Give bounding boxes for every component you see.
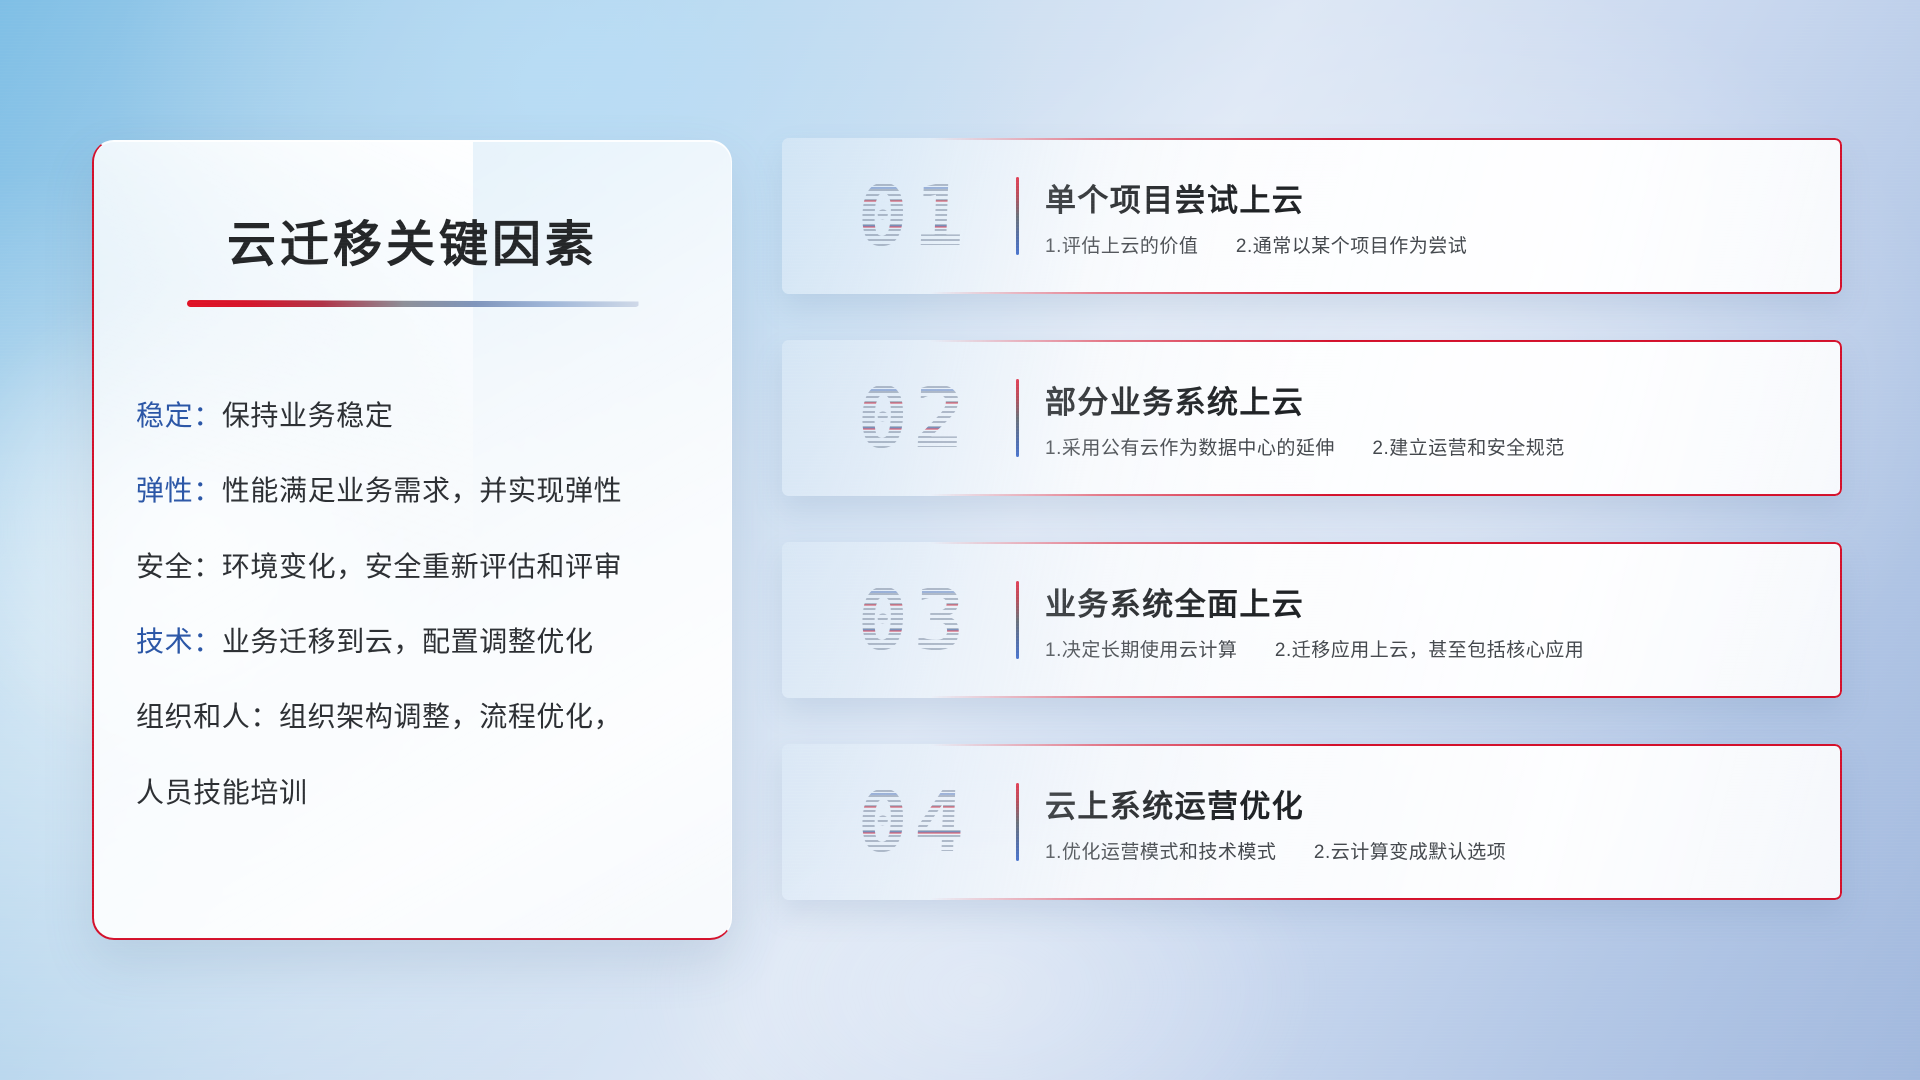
factor-item-elasticity: 弹性：性能满足业务需求，并实现弹性	[136, 468, 693, 513]
factor-text: 人员技能培训	[136, 777, 308, 808]
step-card-04[interactable]: 04 云上系统运营优化 1.优化运营模式和技术模式 2.云计算变成默认选项	[782, 744, 1842, 900]
step-number-01: 01	[815, 174, 1014, 258]
card-divider-bar	[1016, 177, 1019, 255]
step-title: 单个项目尝试上云	[1045, 175, 1804, 220]
factor-item-organization-cont: 人员技能培训	[136, 770, 693, 815]
step-content: 单个项目尝试上云 1.评估上云的价值 2.通常以某个项目作为尝试	[1045, 175, 1842, 258]
step-title: 业务系统全面上云	[1045, 579, 1804, 624]
step-content: 部分业务系统上云 1.采用公有云作为数据中心的延伸 2.建立运营和安全规范	[1045, 377, 1842, 460]
step-content: 业务系统全面上云 1.决定长期使用云计算 2.迁移应用上云，甚至包括核心应用	[1045, 579, 1842, 662]
migration-steps-list: 01 单个项目尝试上云 1.评估上云的价值 2.通常以某个项目作为尝试 02 部…	[782, 138, 1842, 900]
title-underline-rule	[187, 300, 639, 307]
step-description: 1.采用公有云作为数据中心的延伸 2.建立运营和安全规范	[1045, 433, 1804, 460]
slide-canvas: 云迁移关键因素 稳定：保持业务稳定 弹性：性能满足业务需求，并实现弹性 安全：环…	[0, 0, 1920, 1080]
card-divider-bar	[1016, 581, 1019, 659]
step-desc-part-1: 1.优化运营模式和技术模式	[1045, 842, 1276, 863]
step-title: 云上系统运营优化	[1045, 781, 1804, 826]
factor-key: 安全：	[136, 551, 222, 582]
factor-item-organization: 组织和人：组织架构调整，流程优化，	[136, 694, 693, 739]
factor-key: 组织和人：	[136, 701, 279, 732]
factor-text: 业务迁移到云，配置调整优化	[222, 626, 594, 657]
step-number-04: 04	[815, 780, 1014, 864]
factor-text: 性能满足业务需求，并实现弹性	[222, 475, 622, 506]
step-description: 1.决定长期使用云计算 2.迁移应用上云，甚至包括核心应用	[1045, 635, 1804, 662]
step-desc-part-2: 2.云计算变成默认选项	[1314, 842, 1506, 863]
step-content: 云上系统运营优化 1.优化运营模式和技术模式 2.云计算变成默认选项	[1045, 781, 1842, 864]
factor-key: 稳定：	[136, 400, 222, 431]
factor-text: 组织架构调整，流程优化，	[279, 701, 622, 732]
factor-text: 保持业务稳定	[222, 400, 394, 431]
factor-item-technology: 技术：业务迁移到云，配置调整优化	[136, 619, 693, 664]
card-divider-bar	[1016, 379, 1019, 457]
step-description: 1.优化运营模式和技术模式 2.云计算变成默认选项	[1045, 837, 1804, 864]
factor-key: 弹性：	[136, 475, 222, 506]
factor-text: 环境变化，安全重新评估和评审	[222, 551, 622, 582]
factor-item-stability: 稳定：保持业务稳定	[136, 393, 693, 438]
step-desc-part-1: 1.采用公有云作为数据中心的延伸	[1045, 438, 1335, 459]
step-number-03: 03	[815, 578, 1014, 662]
step-number-02: 02	[815, 376, 1014, 460]
factor-item-security: 安全：环境变化，安全重新评估和评审	[136, 544, 693, 589]
step-desc-part-2: 2.通常以某个项目作为尝试	[1236, 236, 1467, 257]
step-card-02[interactable]: 02 部分业务系统上云 1.采用公有云作为数据中心的延伸 2.建立运营和安全规范	[782, 340, 1842, 496]
key-factors-panel: 云迁移关键因素 稳定：保持业务稳定 弹性：性能满足业务需求，并实现弹性 安全：环…	[92, 140, 732, 940]
step-card-01[interactable]: 01 单个项目尝试上云 1.评估上云的价值 2.通常以某个项目作为尝试	[782, 138, 1842, 294]
step-description: 1.评估上云的价值 2.通常以某个项目作为尝试	[1045, 231, 1804, 258]
step-desc-part-2: 2.迁移应用上云，甚至包括核心应用	[1275, 640, 1584, 661]
factor-list: 稳定：保持业务稳定 弹性：性能满足业务需求，并实现弹性 安全：环境变化，安全重新…	[94, 393, 731, 815]
step-desc-part-2: 2.建立运营和安全规范	[1372, 438, 1564, 459]
step-card-03[interactable]: 03 业务系统全面上云 1.决定长期使用云计算 2.迁移应用上云，甚至包括核心应…	[782, 542, 1842, 698]
step-desc-part-1: 1.评估上云的价值	[1045, 236, 1198, 257]
card-divider-bar	[1016, 783, 1019, 861]
factor-key: 技术：	[136, 626, 222, 657]
step-desc-part-1: 1.决定长期使用云计算	[1045, 640, 1237, 661]
page-title: 云迁移关键因素	[94, 205, 731, 276]
step-title: 部分业务系统上云	[1045, 377, 1804, 422]
